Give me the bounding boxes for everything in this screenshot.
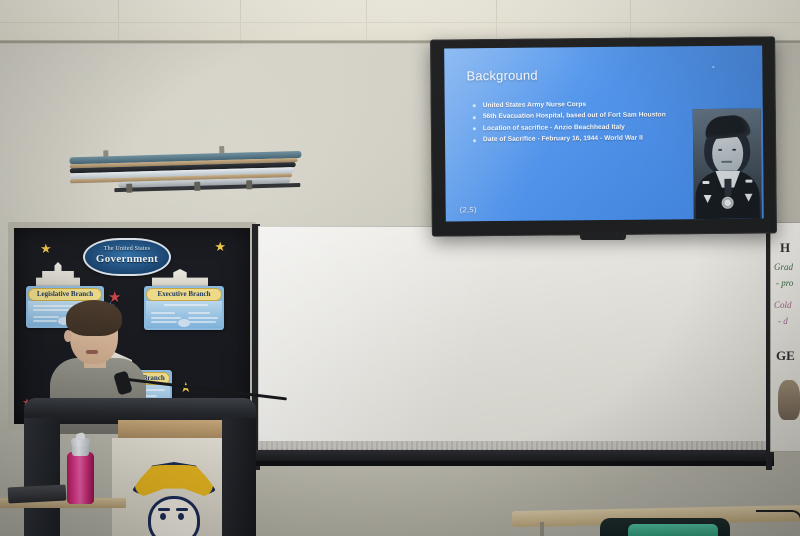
banner-line-1: The United States <box>85 246 169 252</box>
podium-left-column <box>24 418 60 536</box>
speaker-ear <box>64 330 72 342</box>
bulletin-banner: The United States Government <box>83 238 171 276</box>
tv-screen: Background United States Army Nurse Corp… <box>444 45 764 221</box>
banner-line-2: Government <box>85 253 169 265</box>
wall-mounted-rolled-charts <box>69 149 310 204</box>
whiteboard-note-4: - d <box>778 316 788 326</box>
whiteboard-fringe <box>258 441 770 450</box>
tv-wall-mount <box>580 232 626 240</box>
speaker-mouth <box>86 350 98 354</box>
podium-wood-trim <box>118 420 224 438</box>
whiteboard-heading-top: H <box>780 240 790 256</box>
cable-loop <box>756 510 800 536</box>
laptop-device <box>8 484 67 503</box>
panel-executive-branch: Executive Branch <box>144 286 224 330</box>
desk-leg <box>540 522 544 536</box>
chair-cushion <box>628 524 718 536</box>
whiteboard-tray-shadow <box>252 461 774 466</box>
whiteboard-center-glare <box>258 226 770 448</box>
whiteboard-note-1: Grad <box>774 262 793 272</box>
panel-executive-title: Executive Branch <box>146 288 222 301</box>
podium-right-column <box>222 418 256 536</box>
whiteboard-note-3: Cold <box>774 300 792 310</box>
speaker-hair <box>66 300 122 336</box>
presentation-slide: Background United States Army Nurse Corp… <box>444 45 764 221</box>
cowboy-mascot-logo <box>126 462 214 536</box>
panel-legislative-title: Legislative Branch <box>28 288 102 301</box>
mascot-face <box>148 496 200 536</box>
whiteboard-heading-bottom: GE <box>776 348 795 364</box>
wall-mounted-tv: Background United States Army Nurse Corp… <box>430 36 777 236</box>
whiteboard-note-2: - pro <box>776 278 793 288</box>
whiteboard-marker-tray <box>252 450 774 461</box>
whiteboard-right-object <box>778 380 800 420</box>
pink-water-bottle <box>67 452 94 504</box>
classroom-photo: ★ ★ ★ ★ ★ ★ ★ The United States Governme… <box>0 0 800 536</box>
